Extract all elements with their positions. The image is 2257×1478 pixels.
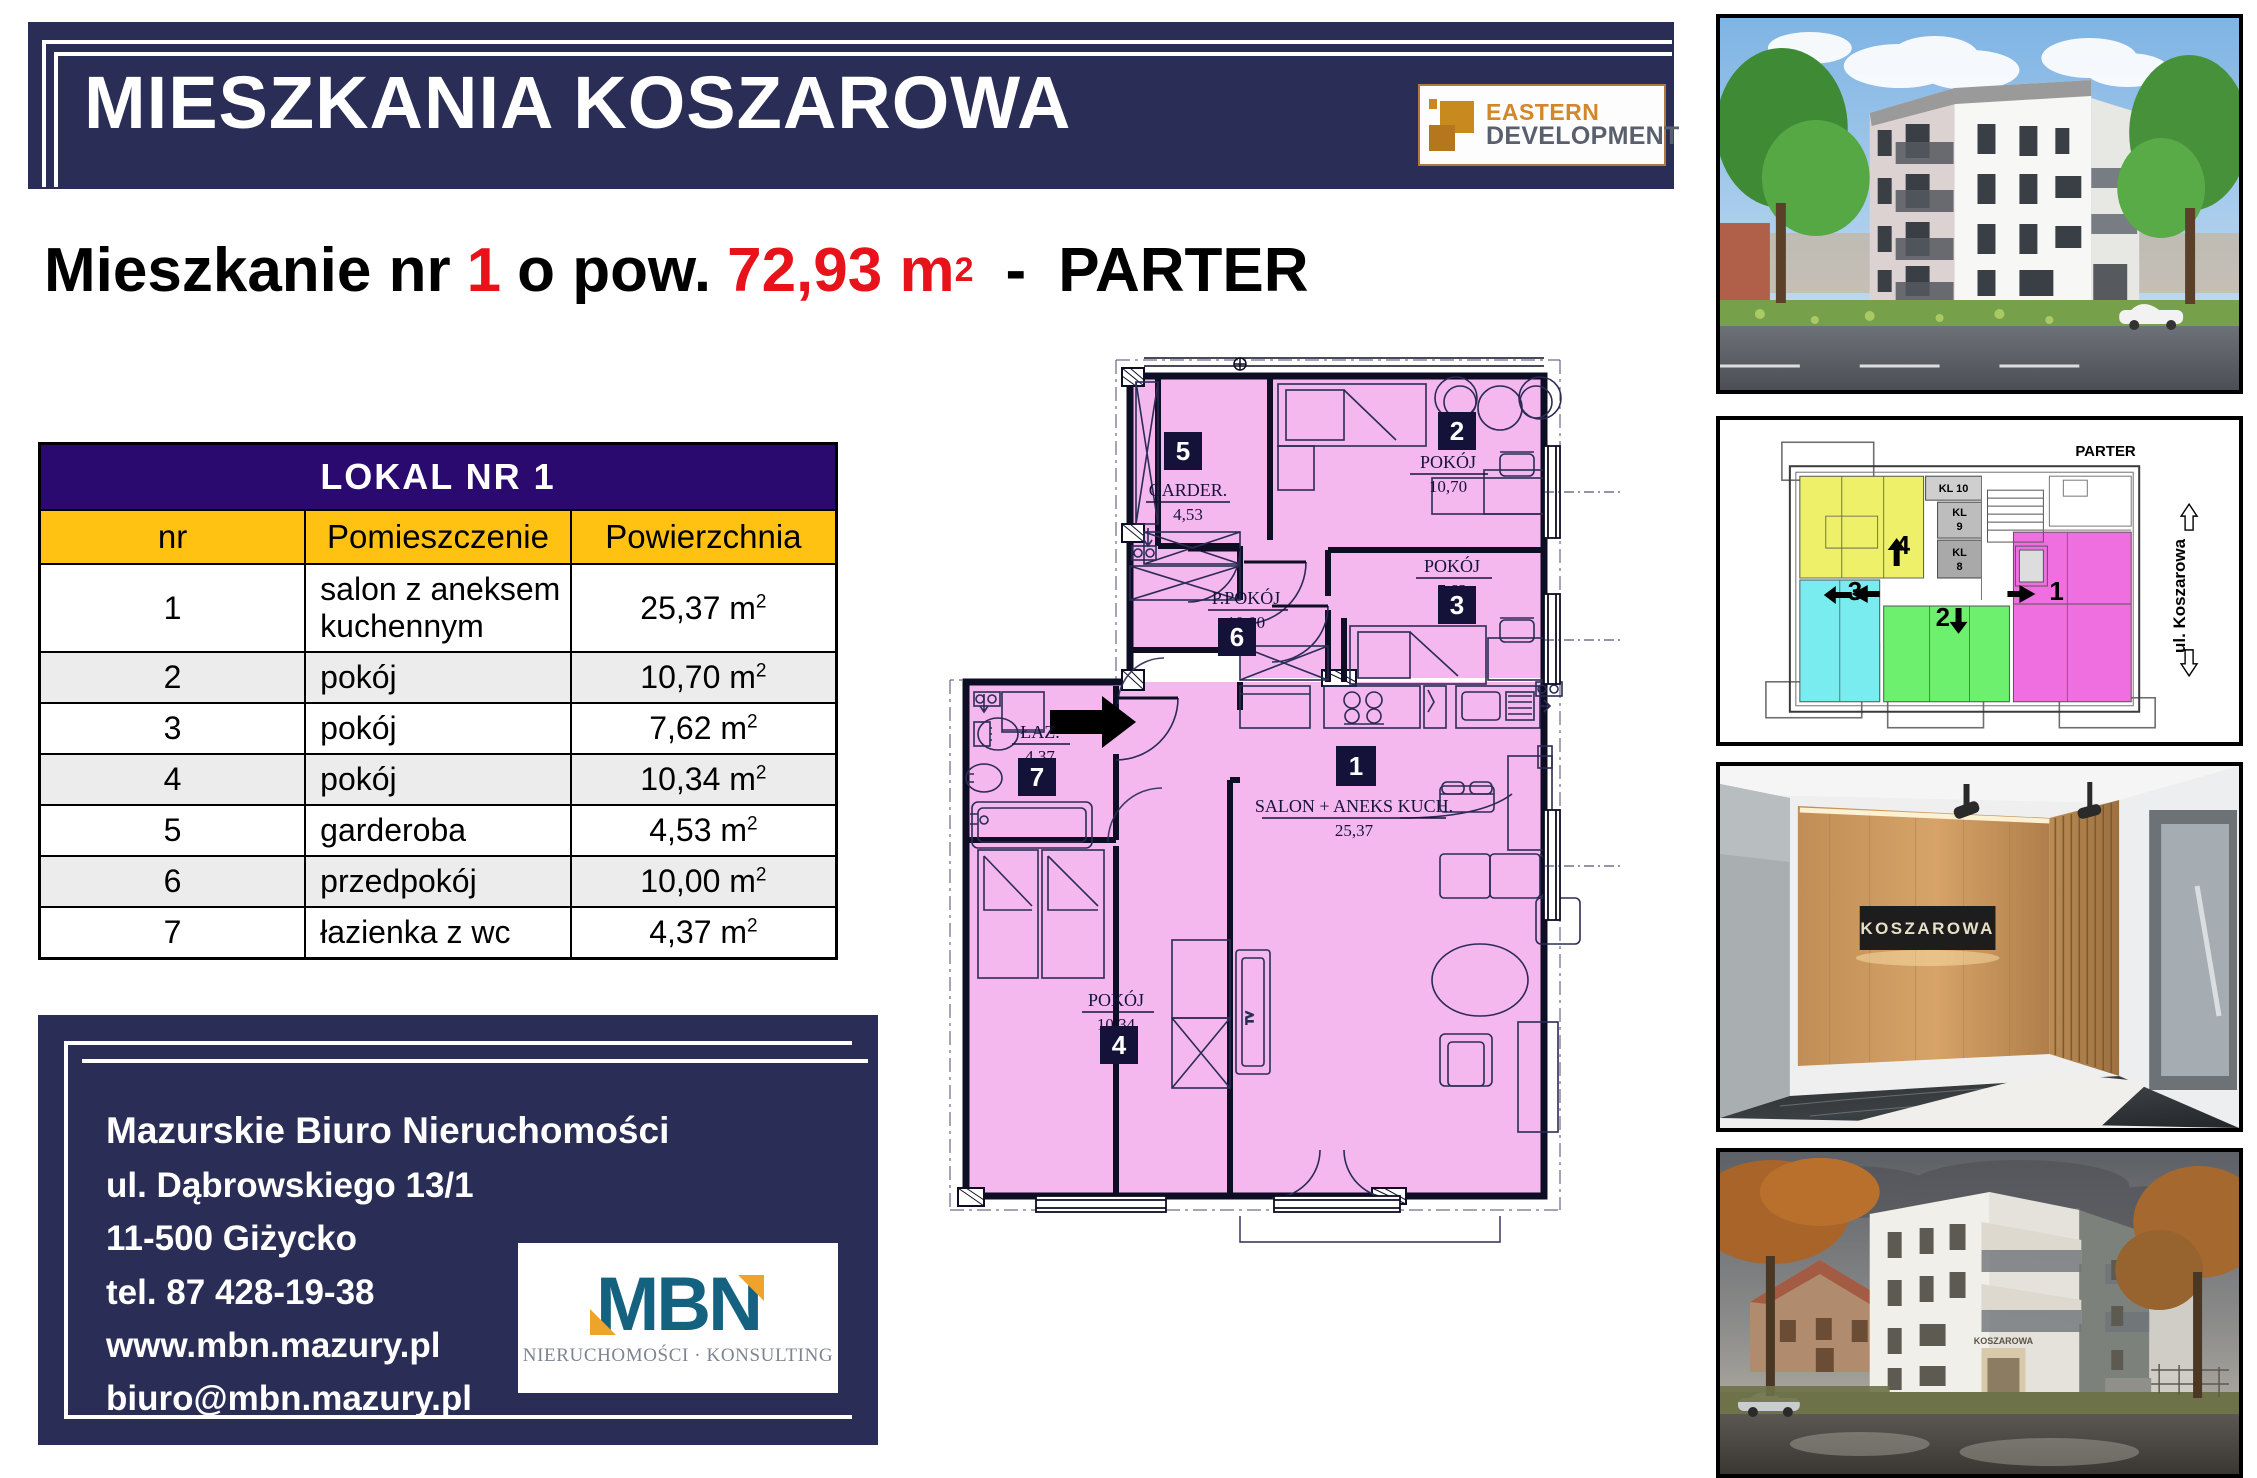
cell-nr: 5 <box>40 805 306 856</box>
ed-logo-line2: DEVELOPMENT <box>1486 124 1680 150</box>
svg-text:1: 1 <box>2049 578 2063 606</box>
svg-text:P.POKÓJ: P.POKÓJ <box>1212 587 1281 608</box>
cell-area: 4,53 m2 <box>571 805 837 856</box>
room-area-table: LOKAL NR 1 nr Pomieszczenie Powierzchnia… <box>38 442 838 960</box>
lobby-sign-text: KOSZAROWA <box>1860 919 1995 938</box>
cell-room: garderoba <box>305 805 571 856</box>
right-column: PARTER <box>1716 14 2243 1464</box>
svg-text:2: 2 <box>1450 416 1464 446</box>
svg-text:POKÓJ: POKÓJ <box>1424 555 1480 576</box>
cell-nr: 6 <box>40 856 306 907</box>
subtitle-area: 72,93 m <box>727 235 955 306</box>
table-row: 3 pokój 7,62 m2 <box>40 703 837 754</box>
subtitle-floor: PARTER <box>1058 235 1308 306</box>
mbn-logo: MBN NIERUCHOMOŚCI · KONSULTING <box>518 1243 838 1393</box>
cell-nr: 7 <box>40 907 306 959</box>
svg-text:4,53: 4,53 <box>1173 505 1203 524</box>
table-row: 2 pokój 10,70 m2 <box>40 652 837 703</box>
svg-text:8: 8 <box>1956 561 1962 573</box>
photo-exterior-render-evening: KOSZAROWA <box>1716 1148 2243 1478</box>
cell-room: łazienka z wc <box>305 907 571 959</box>
cell-area: 7,62 m2 <box>571 703 837 754</box>
contact-border-inner <box>82 1059 868 1063</box>
apartment-floorplan: TV <box>940 350 1620 1250</box>
svg-text:2: 2 <box>1936 604 1950 632</box>
svg-text:SALON + ANEKS KUCH.: SALON + ANEKS KUCH. <box>1255 796 1453 816</box>
eastern-development-mark-icon <box>1428 99 1480 151</box>
photo-lobby-interior: KOSZAROWA <box>1716 762 2243 1132</box>
svg-text:ul. Koszarowa: ul. Koszarowa <box>2170 538 2189 653</box>
col-header-room: Pomieszczenie <box>305 510 571 564</box>
table-header-row: nr Pomieszczenie Powierzchnia <box>40 510 837 564</box>
svg-text:10,70: 10,70 <box>1429 477 1467 496</box>
eastern-development-logo: EASTERN DEVELOPMENT <box>1418 84 1666 166</box>
cell-area: 25,37 m2 <box>571 564 837 652</box>
header-banner: MIESZKANIA KOSZAROWA EASTERN DEVELOPMENT <box>28 22 1674 189</box>
building-key-plan: PARTER <box>1716 416 2243 746</box>
left-column: MIESZKANIA KOSZAROWA EASTERN DEVELOPMENT… <box>0 0 1700 1478</box>
cell-area: 10,70 m2 <box>571 652 837 703</box>
ed-logo-line1: EASTERN <box>1486 101 1680 124</box>
keyplan-unit-4 <box>1800 476 1924 578</box>
keyplan-title: PARTER <box>2075 443 2136 460</box>
cell-area: 10,00 m2 <box>571 856 837 907</box>
col-header-area: Powierzchnia <box>571 510 837 564</box>
svg-text:5: 5 <box>1176 436 1190 466</box>
subtitle-area-sup: 2 <box>955 251 974 290</box>
svg-text:4: 4 <box>1112 1030 1127 1060</box>
svg-text:25,37: 25,37 <box>1335 821 1374 840</box>
cell-room: pokój <box>305 754 571 805</box>
subtitle-unit-number: 1 <box>467 235 501 306</box>
svg-text:9: 9 <box>1956 521 1962 533</box>
svg-text:4,37: 4,37 <box>1025 747 1055 766</box>
apartment-subtitle: Mieszkanie nr 1 o pow. 72,93 m2 - PARTER <box>44 222 1664 318</box>
svg-text:POKÓJ: POKÓJ <box>1420 451 1476 472</box>
cell-nr: 4 <box>40 754 306 805</box>
cell-room: przedpokój <box>305 856 571 907</box>
photo-exterior-render-day <box>1716 14 2243 394</box>
mbn-logo-mark: MBN <box>596 1269 760 1341</box>
table-row: 6 przedpokój 10,00 m2 <box>40 856 837 907</box>
svg-text:KL: KL <box>1952 547 1967 559</box>
mbn-orange-triangle-right-icon <box>738 1275 764 1301</box>
svg-text:10,34: 10,34 <box>1097 1015 1136 1034</box>
svg-text:ŁAZ.: ŁAZ. <box>1020 722 1060 742</box>
cell-area: 4,37 m2 <box>571 907 837 959</box>
cell-area: 10,34 m2 <box>571 754 837 805</box>
svg-text:7,62: 7,62 <box>1437 581 1467 600</box>
table-row: 1 salon z aneksem kuchennym 25,37 m2 <box>40 564 837 652</box>
table-title: LOKAL NR 1 <box>40 444 837 511</box>
subtitle-middle: o pow. <box>517 235 711 306</box>
mbn-orange-triangle-left-icon <box>590 1309 616 1335</box>
mbn-logo-tagline: NIERUCHOMOŚCI · KONSULTING <box>523 1345 833 1367</box>
svg-text:POKÓJ: POKÓJ <box>1088 989 1144 1010</box>
svg-text:KL 10: KL 10 <box>1939 483 1969 495</box>
subtitle-prefix: Mieszkanie nr <box>44 235 451 306</box>
svg-text:1: 1 <box>1349 751 1363 781</box>
svg-text:GARDER.: GARDER. <box>1149 480 1228 500</box>
svg-text:10,00: 10,00 <box>1227 613 1265 632</box>
table-title-row: LOKAL NR 1 <box>40 444 837 511</box>
subtitle-dash: - <box>1006 235 1027 306</box>
svg-text:KL: KL <box>1952 507 1967 519</box>
table-row: 7 łazienka z wc 4,37 m2 <box>40 907 837 959</box>
col-header-nr: nr <box>40 510 306 564</box>
svg-text:KOSZAROWA: KOSZAROWA <box>1974 1336 2034 1346</box>
cell-room: pokój <box>305 652 571 703</box>
contact-card: Mazurskie Biuro Nieruchomości ul. Dąbrow… <box>38 1015 878 1445</box>
svg-text:TV: TV <box>1245 1011 1256 1024</box>
page-title: MIESZKANIA KOSZAROWA <box>84 60 1071 145</box>
svg-text:7: 7 <box>1030 762 1044 792</box>
cell-nr: 3 <box>40 703 306 754</box>
cell-nr: 1 <box>40 564 306 652</box>
contact-company: Mazurskie Biuro Nieruchomości <box>106 1103 669 1159</box>
cell-room: pokój <box>305 703 571 754</box>
cell-nr: 2 <box>40 652 306 703</box>
table-row: 4 pokój 10,34 m2 <box>40 754 837 805</box>
cell-room: salon z aneksem kuchennym <box>305 564 571 652</box>
contact-street: ul. Dąbrowskiego 13/1 <box>106 1159 669 1212</box>
table-row: 5 garderoba 4,53 m2 <box>40 805 837 856</box>
